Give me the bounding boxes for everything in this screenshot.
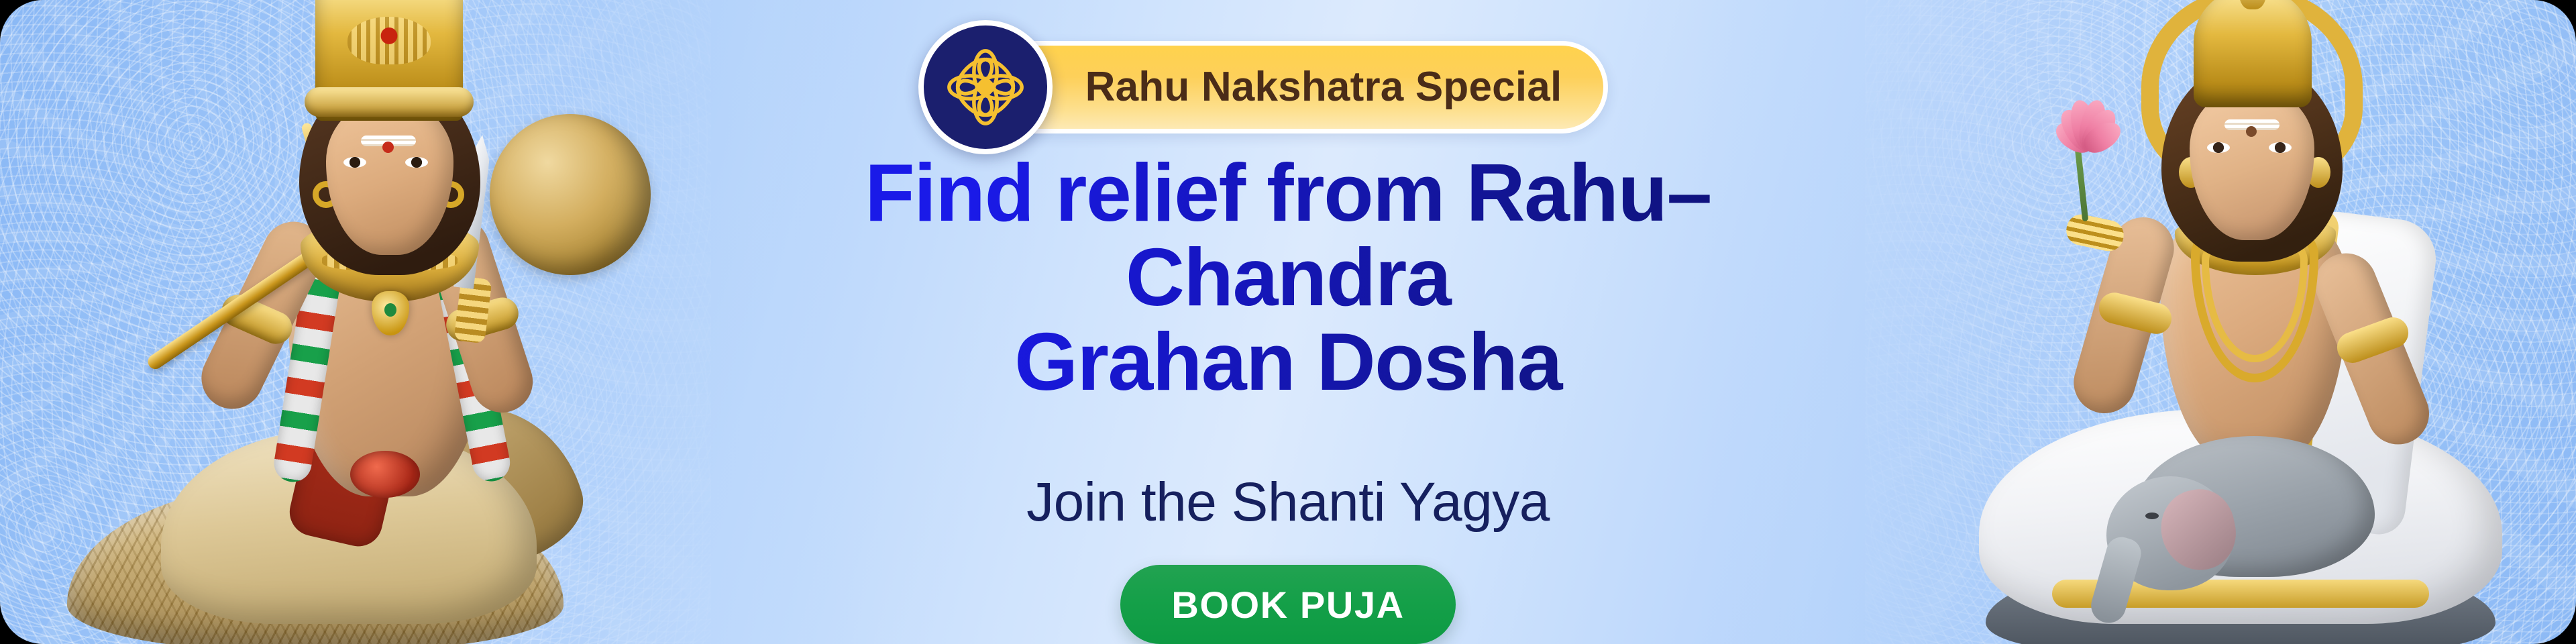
chandra-crown bbox=[2194, 0, 2312, 107]
rahu-face bbox=[326, 99, 453, 255]
eye-left bbox=[343, 157, 366, 168]
page-title: Find relief from Rahu–Chandra Grahan Dos… bbox=[792, 151, 1784, 404]
forehead-bindi bbox=[2246, 126, 2257, 137]
rahu-deity-figure bbox=[87, 0, 610, 644]
garland-knot bbox=[350, 451, 420, 498]
promo-badge-label: Rahu Nakshatra Special bbox=[1085, 63, 1562, 111]
eye-right bbox=[405, 157, 428, 168]
badge-row: Rahu Nakshatra Special bbox=[968, 35, 1609, 139]
rahu-artwork-panel bbox=[0, 0, 711, 644]
cta-wrapper: BOOK PUJA bbox=[1120, 565, 1455, 644]
rahu-crown bbox=[315, 0, 463, 121]
eye-left bbox=[2207, 142, 2230, 153]
headline-line-1: Find relief from Rahu–Chandra bbox=[792, 151, 1784, 319]
headline-line-2: Grahan Dosha bbox=[792, 320, 1784, 405]
pink-lotus-icon bbox=[2038, 80, 2139, 154]
lotus-rosette-icon bbox=[918, 20, 1053, 154]
banner-content: Rahu Nakshatra Special bbox=[671, 0, 1905, 644]
golden-disc bbox=[490, 114, 651, 275]
gold-bangles bbox=[2063, 212, 2127, 254]
chandra-deity-figure bbox=[1966, 0, 2516, 644]
promo-banner: Rahu Nakshatra Special bbox=[0, 0, 2576, 644]
chandra-artwork-panel bbox=[1865, 0, 2576, 644]
promo-badge[interactable]: Rahu Nakshatra Special bbox=[968, 41, 1609, 133]
forehead-bindi bbox=[382, 142, 394, 153]
eye-right bbox=[2269, 142, 2292, 153]
book-puja-button[interactable]: BOOK PUJA bbox=[1120, 565, 1455, 644]
chandra-face bbox=[2190, 87, 2314, 240]
baby-elephant-eye bbox=[2145, 513, 2159, 519]
subtitle: Join the Shanti Yagya bbox=[1026, 471, 1550, 534]
book-puja-button-label: BOOK PUJA bbox=[1171, 583, 1404, 627]
